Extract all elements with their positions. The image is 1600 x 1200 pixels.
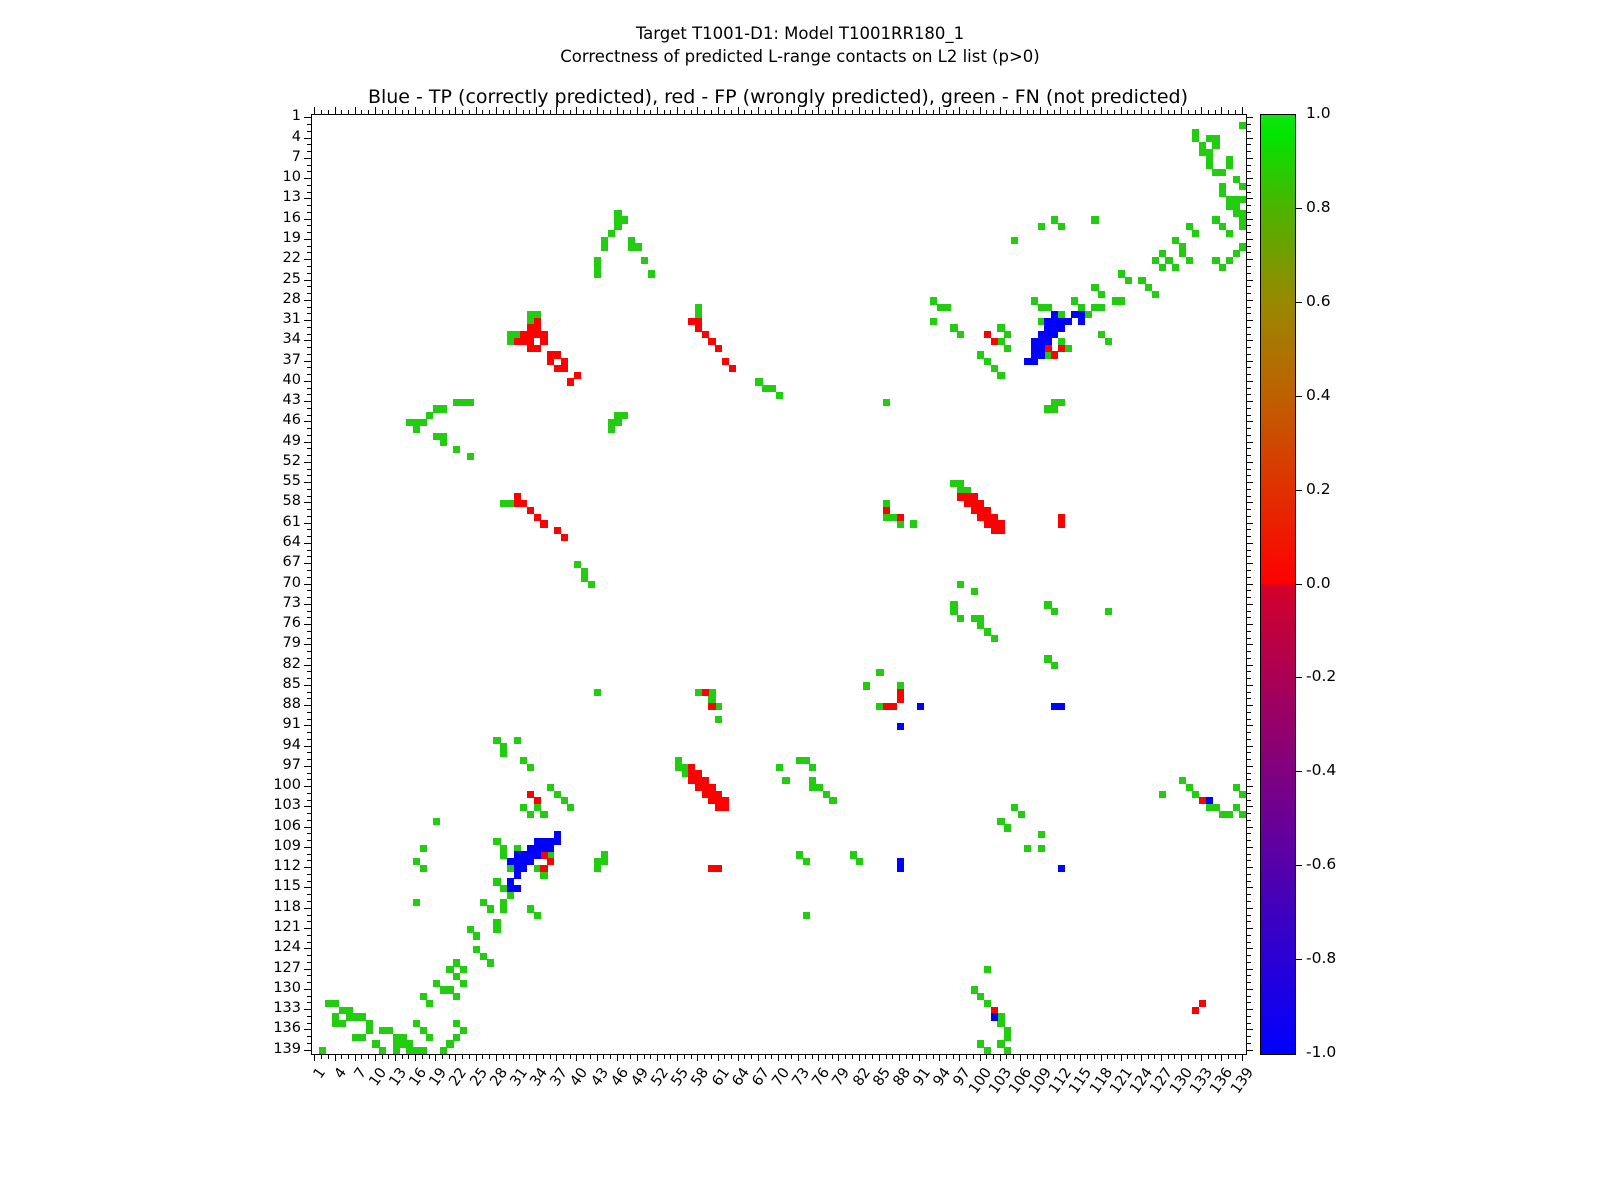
y-tick <box>304 847 311 848</box>
contact-cell <box>897 514 904 521</box>
y-tick-right <box>1246 955 1251 956</box>
x-tick-top <box>1094 110 1095 115</box>
figure-suptitle: Target T1001-D1: Model T1001RR180_1Corre… <box>0 22 1600 68</box>
colorbar-tick <box>1295 584 1302 585</box>
y-tick-label: 85 <box>229 676 301 692</box>
x-tick <box>422 1054 423 1059</box>
contact-cell <box>527 764 534 771</box>
colorbar-tick <box>1295 208 1302 209</box>
y-tick-right <box>1246 421 1253 422</box>
contact-cell <box>567 804 574 811</box>
x-tick-top <box>623 110 624 115</box>
x-tick <box>523 1054 524 1059</box>
y-tick <box>304 766 311 767</box>
x-tick <box>335 1054 336 1061</box>
y-tick <box>307 448 312 449</box>
contact-cell <box>561 534 568 541</box>
y-tick-right <box>1246 246 1251 247</box>
y-tick-label: 121 <box>229 919 301 935</box>
y-tick-right <box>1246 827 1253 828</box>
contact-cell <box>856 858 863 865</box>
x-tick <box>825 1054 826 1059</box>
x-tick <box>1013 1054 1014 1059</box>
x-tick <box>361 1054 362 1059</box>
y-tick <box>307 611 312 612</box>
y-tick <box>307 307 312 308</box>
y-tick-right <box>1246 935 1251 936</box>
contact-cell <box>1038 831 1045 838</box>
x-tick <box>718 1054 719 1061</box>
contact-cell <box>601 858 608 865</box>
x-tick <box>630 1054 631 1059</box>
y-tick <box>307 1016 312 1017</box>
y-tick <box>304 908 311 909</box>
contact-cell <box>776 392 783 399</box>
contact-cell <box>453 446 460 453</box>
x-tick <box>603 1054 604 1059</box>
y-tick-right <box>1246 996 1251 997</box>
x-tick <box>415 1054 416 1061</box>
contact-cell <box>547 845 554 852</box>
y-tick-right <box>1246 259 1253 260</box>
contact-cell <box>1091 216 1098 223</box>
y-tick <box>304 665 311 666</box>
contact-cell <box>500 905 507 912</box>
y-tick <box>304 948 311 949</box>
x-tick-top <box>731 110 732 115</box>
y-tick-right <box>1246 1023 1251 1024</box>
x-tick <box>1208 1054 1209 1059</box>
y-tick-label: 61 <box>229 514 301 530</box>
y-tick <box>304 401 311 402</box>
x-tick-top <box>469 110 470 115</box>
contact-cell <box>997 1013 1004 1020</box>
contact-cell <box>957 615 964 622</box>
contact-cell <box>440 439 447 446</box>
x-tick <box>382 1054 383 1059</box>
y-tick <box>307 698 312 699</box>
x-tick-top <box>536 107 537 114</box>
y-tick-right <box>1246 942 1251 943</box>
y-tick-right <box>1246 388 1251 389</box>
x-tick-top <box>1114 110 1115 115</box>
y-tick <box>304 969 311 970</box>
y-tick <box>307 225 312 226</box>
y-tick-right <box>1246 712 1251 713</box>
contact-cell <box>991 1013 998 1020</box>
y-tick-label: 76 <box>229 615 301 631</box>
y-tick <box>307 617 312 618</box>
y-tick-right <box>1246 374 1251 375</box>
y-tick <box>307 124 312 125</box>
contact-cell <box>493 838 500 845</box>
x-tick-top <box>1161 107 1162 114</box>
y-tick <box>307 732 312 733</box>
x-tick-top <box>751 110 752 115</box>
contact-cell <box>1152 291 1159 298</box>
contact-cell <box>1125 277 1132 284</box>
y-tick-right <box>1246 320 1253 321</box>
y-tick <box>307 692 312 693</box>
x-tick-top <box>455 107 456 114</box>
contact-cell <box>540 520 547 527</box>
y-tick-right <box>1246 570 1251 571</box>
y-tick-right <box>1246 644 1253 645</box>
contact-map-plot[interactable] <box>311 114 1247 1055</box>
y-tick-right <box>1246 638 1251 639</box>
colorbar-tick-label: 0.6 <box>1306 292 1331 310</box>
y-tick <box>307 435 312 436</box>
y-tick <box>307 394 312 395</box>
x-tick <box>395 1054 396 1061</box>
y-tick-right <box>1246 171 1251 172</box>
y-tick <box>304 827 311 828</box>
contact-cell <box>997 527 1004 534</box>
x-tick <box>650 1054 651 1059</box>
contact-cell <box>1212 169 1219 176</box>
x-tick-top <box>361 110 362 115</box>
y-tick-right <box>1246 198 1253 199</box>
contact-cell <box>1004 1034 1011 1041</box>
x-tick <box>1148 1054 1149 1059</box>
x-tick <box>429 1054 430 1059</box>
x-tick <box>1154 1054 1155 1059</box>
colorbar-tick <box>1295 302 1302 303</box>
x-tick <box>402 1054 403 1059</box>
y-tick <box>307 266 312 267</box>
y-tick <box>307 151 312 152</box>
y-tick <box>307 374 312 375</box>
x-tick-top <box>1221 107 1222 114</box>
contact-cell <box>1058 520 1065 527</box>
contact-cell <box>453 1034 460 1041</box>
x-tick <box>845 1054 846 1059</box>
contact-cell <box>393 1047 400 1054</box>
contact-cell <box>1058 399 1065 406</box>
contact-cell <box>1038 845 1045 852</box>
y-tick <box>307 752 312 753</box>
x-tick-top <box>1208 110 1209 115</box>
x-tick-top <box>798 107 799 114</box>
y-tick-right <box>1246 543 1253 544</box>
x-tick-top <box>435 107 436 114</box>
x-tick-top <box>408 110 409 115</box>
contact-cell <box>1098 304 1105 311</box>
x-tick-top <box>1027 110 1028 115</box>
contact-cell <box>1065 318 1072 325</box>
x-tick <box>516 1054 517 1061</box>
x-tick-top <box>1134 110 1135 115</box>
x-tick <box>899 1054 900 1061</box>
contact-cell <box>588 581 595 588</box>
x-tick <box>583 1054 584 1059</box>
contact-cell <box>500 750 507 757</box>
x-tick <box>691 1054 692 1059</box>
contact-cell <box>507 892 514 899</box>
y-tick <box>304 705 311 706</box>
y-tick-label: 79 <box>229 635 301 651</box>
contact-cell <box>715 716 722 723</box>
y-tick-right <box>1246 212 1251 213</box>
contact-cell <box>574 372 581 379</box>
contact-cell <box>883 507 890 514</box>
y-tick <box>307 935 312 936</box>
contact-cell <box>561 365 568 372</box>
contact-cell <box>487 905 494 912</box>
x-tick-top <box>556 107 557 114</box>
y-tick-right <box>1246 786 1253 787</box>
x-tick-top <box>818 107 819 114</box>
x-tick-top <box>1242 107 1243 114</box>
contact-cell <box>460 980 467 987</box>
y-tick-right <box>1246 624 1253 625</box>
x-tick-top <box>1188 110 1189 115</box>
y-tick-right <box>1246 1050 1253 1051</box>
x-tick <box>933 1054 934 1059</box>
contact-cell <box>635 243 642 250</box>
y-tick-right <box>1246 969 1253 970</box>
x-tick <box>1040 1054 1041 1061</box>
x-tick <box>684 1054 685 1059</box>
contact-cell <box>1058 865 1065 872</box>
y-tick-right <box>1246 367 1251 368</box>
x-tick-top <box>1201 107 1202 114</box>
contact-cell <box>883 399 890 406</box>
x-tick-top <box>744 110 745 115</box>
contact-cell <box>991 635 998 642</box>
y-tick-right <box>1246 1043 1251 1044</box>
contact-cell <box>534 345 541 352</box>
contact-cell <box>997 372 1004 379</box>
x-tick <box>765 1054 766 1059</box>
y-tick-right <box>1246 631 1251 632</box>
x-tick <box>980 1054 981 1061</box>
contact-cell <box>957 581 964 588</box>
contact-cell <box>1206 804 1213 811</box>
x-tick-top <box>1047 110 1048 115</box>
y-tick <box>307 982 312 983</box>
y-tick <box>307 894 312 895</box>
y-tick-label: 13 <box>229 189 301 205</box>
x-tick <box>529 1054 530 1059</box>
contact-cell <box>1239 791 1246 798</box>
x-tick <box>623 1054 624 1059</box>
x-tick <box>1181 1054 1182 1061</box>
y-tick-label: 94 <box>229 737 301 753</box>
colorbar-tick <box>1295 490 1302 491</box>
contact-cell <box>897 520 904 527</box>
y-tick-label: 34 <box>229 331 301 347</box>
y-tick <box>307 860 312 861</box>
x-tick <box>1215 1054 1216 1059</box>
x-tick-top <box>516 107 517 114</box>
x-tick <box>926 1054 927 1059</box>
contact-cell <box>487 959 494 966</box>
x-tick <box>1174 1054 1175 1059</box>
x-tick <box>1134 1054 1135 1059</box>
contact-cell <box>1078 318 1085 325</box>
contact-cell <box>1058 223 1065 230</box>
x-tick-top <box>1087 110 1088 115</box>
y-tick-right <box>1246 948 1253 949</box>
y-tick-right <box>1246 482 1253 483</box>
x-tick <box>597 1054 598 1061</box>
contact-cell <box>540 845 547 852</box>
contact-cell <box>971 588 978 595</box>
contact-cell <box>420 419 427 426</box>
y-tick-right <box>1246 381 1253 382</box>
y-tick-right <box>1246 806 1253 807</box>
y-tick <box>307 509 312 510</box>
y-tick <box>304 806 311 807</box>
x-tick-top <box>610 110 611 115</box>
colorbar-tick <box>1295 865 1302 866</box>
x-tick-top <box>1235 110 1236 115</box>
contact-cell <box>1058 324 1065 331</box>
y-tick-right <box>1246 766 1253 767</box>
y-tick-label: 28 <box>229 291 301 307</box>
contact-cell <box>1065 345 1072 352</box>
y-tick-right <box>1246 178 1253 179</box>
x-tick <box>771 1054 772 1059</box>
contact-cell <box>1105 608 1112 615</box>
contact-cell <box>614 419 621 426</box>
x-tick-top <box>879 107 880 114</box>
y-tick <box>304 138 311 139</box>
x-tick <box>1101 1054 1102 1061</box>
x-tick-top <box>805 110 806 115</box>
y-tick-right <box>1246 435 1251 436</box>
y-tick <box>307 334 312 335</box>
contact-cell <box>1098 291 1105 298</box>
y-tick <box>307 1002 312 1003</box>
y-tick-right <box>1246 408 1251 409</box>
y-tick <box>307 475 312 476</box>
x-tick-top <box>1141 107 1142 114</box>
x-tick-top <box>1168 110 1169 115</box>
contact-cell <box>514 737 521 744</box>
y-tick-right <box>1246 462 1253 463</box>
contact-cell <box>467 399 474 406</box>
contact-cell <box>608 426 615 433</box>
y-tick-right <box>1246 732 1251 733</box>
x-tick-top <box>462 110 463 115</box>
x-tick <box>906 1054 907 1059</box>
contact-cell <box>594 865 601 872</box>
suptitle-line-1: Target T1001-D1: Model T1001RR180_1 <box>636 24 964 43</box>
colorbar-gradient <box>1260 114 1296 1055</box>
y-tick <box>307 840 312 841</box>
y-tick <box>304 219 311 220</box>
x-tick <box>1067 1054 1068 1059</box>
y-tick-right <box>1246 725 1253 726</box>
x-tick <box>408 1054 409 1059</box>
x-tick <box>576 1054 577 1061</box>
x-tick-top <box>1228 110 1229 115</box>
y-tick <box>307 550 312 551</box>
y-tick-right <box>1246 894 1251 895</box>
contact-cell <box>863 682 870 689</box>
x-tick <box>496 1054 497 1061</box>
y-tick <box>307 428 312 429</box>
y-tick <box>307 975 312 976</box>
x-tick-top <box>1013 110 1014 115</box>
x-tick-top <box>697 107 698 114</box>
y-tick-right <box>1246 475 1251 476</box>
x-tick <box>1107 1054 1108 1059</box>
x-tick-top <box>1127 110 1128 115</box>
x-tick <box>509 1054 510 1059</box>
x-tick <box>704 1054 705 1059</box>
x-tick <box>966 1054 967 1059</box>
y-tick-right <box>1246 901 1251 902</box>
x-tick <box>1221 1054 1222 1061</box>
x-tick <box>946 1054 947 1059</box>
y-tick-right <box>1246 739 1251 740</box>
contact-cell <box>1085 311 1092 318</box>
y-tick-label: 25 <box>229 271 301 287</box>
contact-cell <box>540 872 547 879</box>
y-tick <box>307 577 312 578</box>
y-tick <box>307 962 312 963</box>
y-tick <box>304 1050 311 1051</box>
y-tick <box>304 543 311 544</box>
y-tick-label: 4 <box>229 129 301 145</box>
x-tick-top <box>1040 107 1041 114</box>
y-tick <box>307 192 312 193</box>
y-tick-right <box>1246 516 1251 517</box>
x-tick-top <box>603 110 604 115</box>
contact-cell <box>426 1034 433 1041</box>
x-tick-top <box>1000 107 1001 114</box>
y-tick <box>307 773 312 774</box>
x-tick-top <box>1033 110 1034 115</box>
y-tick-right <box>1246 752 1251 753</box>
x-tick-top <box>375 107 376 114</box>
y-tick-right <box>1246 340 1253 341</box>
y-tick-label: 1 <box>229 108 301 124</box>
x-tick <box>1094 1054 1095 1059</box>
y-tick <box>307 942 312 943</box>
contact-cell <box>366 1020 373 1027</box>
y-tick <box>307 165 312 166</box>
contact-cell <box>1051 703 1058 710</box>
x-tick-top <box>980 107 981 114</box>
x-tick-top <box>1107 110 1108 115</box>
x-tick <box>657 1054 658 1061</box>
x-tick <box>778 1054 779 1061</box>
y-tick <box>307 293 312 294</box>
contact-cell <box>359 1034 366 1041</box>
contact-cell <box>621 216 628 223</box>
y-tick <box>304 928 311 929</box>
y-tick-right <box>1246 833 1251 834</box>
contact-cell <box>897 723 904 730</box>
y-tick <box>304 280 311 281</box>
y-tick <box>304 442 311 443</box>
x-tick-top <box>395 107 396 114</box>
x-tick-top <box>1181 107 1182 114</box>
contact-cell <box>897 865 904 872</box>
colorbar-tick-label: 0.8 <box>1306 198 1331 216</box>
y-tick <box>307 556 312 557</box>
y-tick-right <box>1246 239 1253 240</box>
x-tick <box>1242 1054 1243 1061</box>
contact-cell <box>1058 703 1065 710</box>
contact-cell <box>1206 797 1213 804</box>
y-tick <box>304 300 311 301</box>
colorbar-tick-label: 0.2 <box>1306 480 1331 498</box>
